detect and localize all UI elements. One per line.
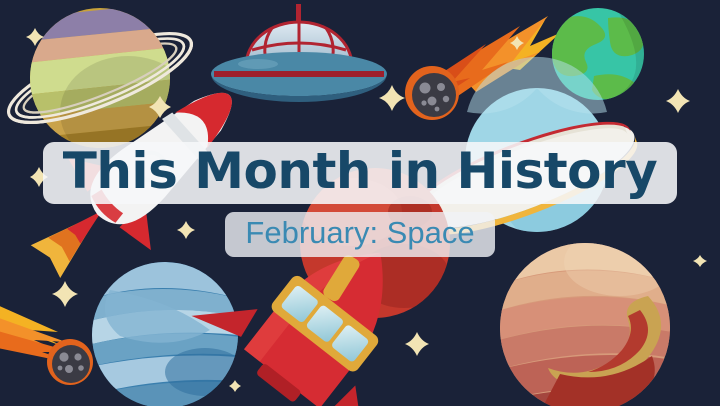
comet-top-head bbox=[405, 66, 459, 120]
headline-group: This Month in History February: Space bbox=[0, 142, 720, 257]
subtitle-wrap: February: Space bbox=[0, 212, 720, 257]
ufo-hull-stripe bbox=[214, 71, 384, 77]
space-banner-canvas: This Month in History February: Space bbox=[0, 0, 720, 406]
comet-bottom-head bbox=[47, 339, 93, 385]
page-title: This Month in History bbox=[63, 146, 658, 196]
page-subtitle: February: Space bbox=[245, 215, 474, 251]
title-pill: This Month in History bbox=[43, 142, 678, 204]
subtitle-pill: February: Space bbox=[225, 212, 494, 257]
